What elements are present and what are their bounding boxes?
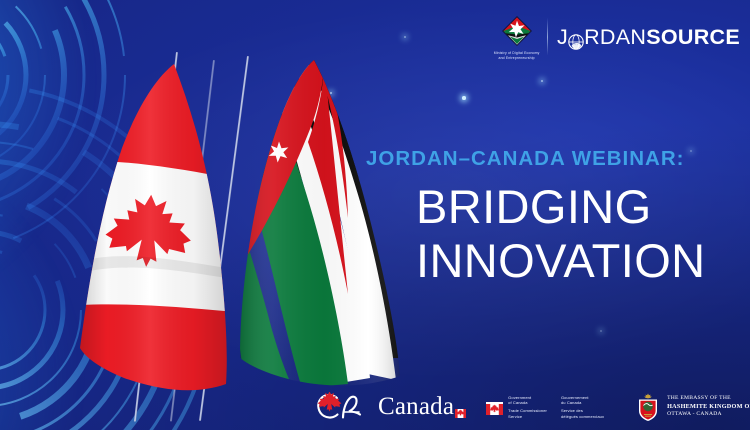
particle-dot [541, 80, 543, 82]
headline-line-1: BRIDGING [416, 180, 736, 234]
goc-en-line1: Government [508, 395, 531, 400]
page-title: BRIDGING INNOVATION [416, 180, 736, 288]
header-divider [547, 18, 548, 56]
jordan-flag [236, 58, 406, 403]
webinar-banner: Ministry of Digital Economy and Entrepre… [0, 0, 750, 430]
ministry-of-digital-economy-logo: Ministry of Digital Economy and Entrepre… [488, 14, 545, 60]
embassy-of-jordan-logo[interactable]: THE EMBASSY OF THE HASHEMITE KINGDOM OF … [636, 392, 750, 422]
jordansource-logo[interactable]: J RDAN SOURCE [557, 25, 740, 50]
particle-dot [690, 150, 692, 152]
goc-text-french: Gouvernement du Canada Service des délég… [561, 395, 604, 419]
canada-flag-icon [455, 397, 466, 406]
goc-en-line4: Service [508, 414, 522, 419]
goc-fr-line4: délégués commerciaux [561, 414, 604, 419]
embassy-line1: THE EMBASSY OF THE [667, 395, 731, 401]
ministry-name-line1: Ministry of Digital Economy [494, 51, 540, 56]
embassy-line3: OTTAWA - CANADA [667, 411, 722, 417]
particle-dot [600, 330, 602, 332]
brand-text-rdan: RDAN [584, 25, 646, 50]
hashemite-crown-crest-icon [636, 392, 660, 422]
goc-fr-line1: Gouvernement [561, 395, 589, 400]
canada-wordmark[interactable]: Canada [378, 393, 466, 421]
headline-line-2: INNOVATION [416, 234, 736, 288]
embassy-line2: HASHEMITE KINGDOM OF JORDAN [667, 403, 750, 410]
footer-logos: Canada [316, 386, 750, 428]
jordan-ministry-emblem-icon [500, 14, 534, 48]
particle-dot [462, 96, 466, 100]
webinar-kicker: JORDAN–CANADA WEBINAR: [366, 147, 685, 171]
canada-flag [78, 62, 238, 402]
goc-en-line3: Trade Commissioner [508, 408, 547, 413]
brand-text-j: J [557, 25, 568, 50]
globe-hand-icon [568, 31, 584, 47]
header-logos: Ministry of Digital Economy and Entrepre… [488, 8, 740, 66]
goc-text-english: Government of Canada Trade Commissioner … [508, 395, 547, 419]
goc-en-line2: of Canada [508, 400, 527, 405]
ministry-name-text: Ministry of Digital Economy and Entrepre… [494, 51, 540, 60]
canada-wordmark-text: Canada [378, 393, 454, 421]
goc-fr-line3: Service des [561, 408, 583, 413]
particle-dot [404, 36, 406, 38]
ca-monogram-logo[interactable] [316, 392, 362, 422]
government-of-canada-tcs-logo[interactable]: Government of Canada Trade Commissioner … [486, 395, 618, 419]
brand-text-source: SOURCE [646, 25, 740, 50]
goc-fr-line2: du Canada [561, 400, 581, 405]
canada-flag-icon [486, 402, 503, 413]
ministry-name-line2: and Entrepreneurship [494, 56, 540, 61]
embassy-text: THE EMBASSY OF THE HASHEMITE KINGDOM OF … [667, 395, 750, 419]
